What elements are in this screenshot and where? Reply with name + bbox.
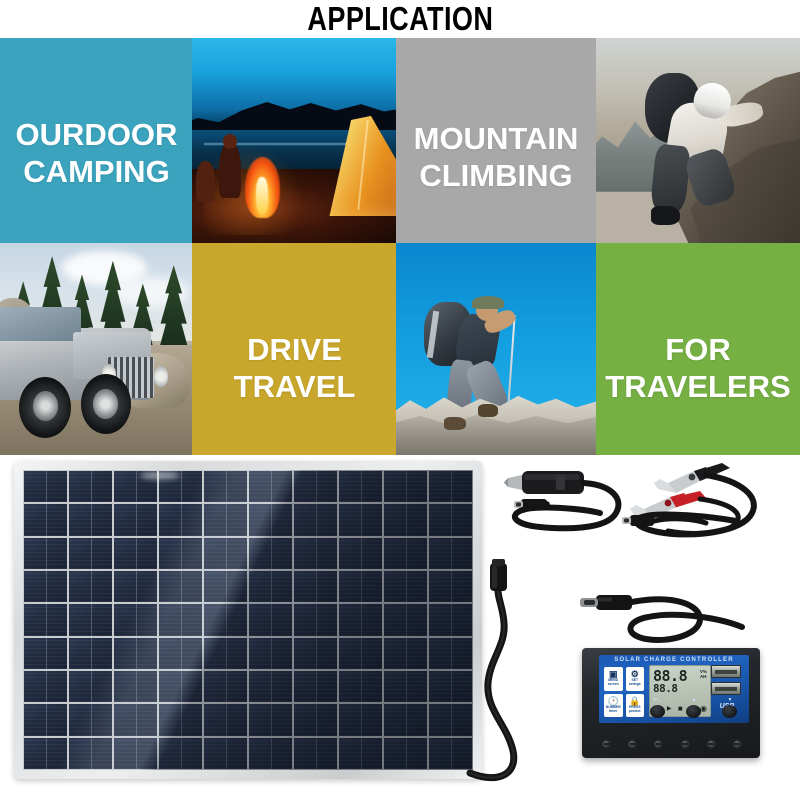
hiker-cap (472, 296, 504, 309)
panel-output-cable (470, 559, 514, 778)
controller-front-panel: SOLAR CHARGE CONTROLLER ▣ MENU screen ⚙ … (599, 655, 749, 723)
tile-climber-photo (596, 38, 800, 243)
climber-boot (651, 206, 680, 224)
menu-screen-button[interactable]: ▣ MENU screen (604, 667, 623, 691)
hiker-boot (444, 417, 466, 430)
menu-button-line2: screen (608, 683, 619, 687)
screw-terminal (628, 740, 637, 749)
screw-terminal (707, 740, 716, 749)
down-button-label: ▼ (721, 697, 739, 703)
tile-hiker-photo (396, 243, 596, 455)
controller-icon-button-group: ▣ MENU screen ⚙ SET setings 🕑 NUMBER tim… (604, 667, 644, 717)
tile-mountain-climbing: MOUNTAIN CLIMBING (396, 38, 596, 243)
usb-port-2[interactable] (711, 682, 741, 695)
dc-extension-cable (580, 595, 742, 640)
controller-press-button-row: ↵← ▲ ▼ (649, 697, 749, 719)
tile-label-outdoor-camping: OURDOOR CAMPING (0, 116, 193, 190)
tile-campfire-photo (192, 38, 397, 243)
jeep-headlight (154, 366, 168, 387)
application-grid: OURDOOR CAMPING MOUNTAIN CLIMBING (0, 38, 800, 455)
tile-outdoor-camping: OURDOOR CAMPING (0, 38, 193, 243)
hiker-boot (478, 404, 498, 417)
screw-terminal (602, 740, 611, 749)
down-press-button[interactable] (722, 705, 737, 718)
jeep-front-rim (93, 389, 118, 419)
tile-label-drive-travel: DRIVE TRAVEL (192, 331, 397, 405)
up-press-button[interactable] (686, 705, 701, 718)
usb-port-1[interactable] (711, 665, 741, 678)
lock-button-line2: protect (629, 710, 641, 714)
set-button-line2: setings (629, 683, 641, 687)
jeep-rear-rim (33, 391, 58, 421)
left-press-button[interactable] (650, 705, 665, 718)
battery-alligator-clips (622, 463, 754, 534)
lock-protect-button[interactable]: 🔒 PRESS protect (626, 694, 645, 718)
lcd-unit-bottom: AH (700, 674, 707, 679)
tile-drive-travel: DRIVE TRAVEL (192, 243, 397, 455)
campfire-person-head (223, 134, 237, 148)
screw-terminal (654, 740, 663, 749)
campfire-flame-core (256, 177, 268, 214)
up-button-label: ▲ (685, 697, 703, 703)
terminal-block (602, 737, 742, 751)
page-title: APPLICATION (307, 2, 493, 36)
jeep-windows (0, 307, 81, 341)
campfire-person-child (196, 161, 214, 202)
screw-terminal (733, 740, 742, 749)
lcd-unit-labels: V% AH (700, 669, 707, 680)
tile-jeep-photo (0, 243, 193, 455)
campfire-person-adult (219, 141, 242, 198)
timer-button[interactable]: 🕑 NUMBER timer (604, 694, 623, 718)
product-photo-area: SOLAR CHARGE CONTROLLER ▣ MENU screen ⚙ … (0, 455, 800, 800)
car-cigarette-lighter-charger (504, 471, 618, 528)
screw-terminal (681, 740, 690, 749)
cigarette-plug-body (504, 471, 584, 494)
page-title-bar: APPLICATION (0, 0, 800, 38)
left-button-label: ↵← (649, 697, 667, 703)
solar-charge-controller: SOLAR CHARGE CONTROLLER ▣ MENU screen ⚙ … (582, 648, 760, 758)
tile-label-mountain-climbing: MOUNTAIN CLIMBING (396, 120, 596, 194)
controller-title: SOLAR CHARGE CONTROLLER (599, 657, 749, 663)
timer-button-line2: timer (609, 710, 617, 714)
tile-label-for-travelers: FOR TRAVELERS (596, 331, 800, 405)
set-settings-button[interactable]: ⚙ SET setings (626, 667, 645, 691)
tile-for-travelers: FOR TRAVELERS (596, 243, 800, 455)
